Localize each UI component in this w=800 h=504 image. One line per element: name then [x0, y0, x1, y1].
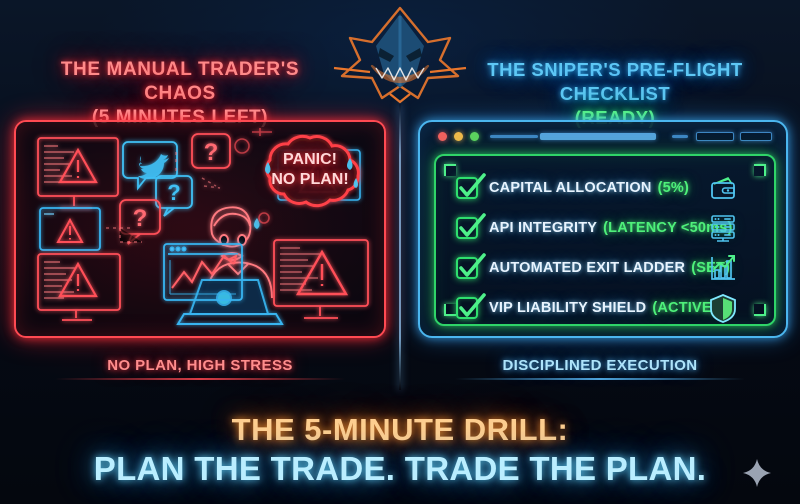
- checkbox-checked-icon[interactable]: [456, 297, 478, 319]
- checklist-item-value: (5%): [658, 180, 689, 196]
- panic-thought-bubble: PANIC! NO PLAN!: [244, 134, 376, 216]
- left-caption: NO PLAN, HIGH STRESS: [60, 352, 340, 378]
- svg-text:?: ?: [133, 205, 148, 232]
- window-minimize-dot[interactable]: [454, 132, 463, 141]
- svg-text:?: ?: [204, 139, 219, 166]
- panel-divider: [399, 104, 401, 390]
- svg-text:?: ?: [167, 180, 180, 205]
- checklist-item-label: AUTOMATED EXIT LADDER: [489, 260, 685, 276]
- checkbox-checked-icon[interactable]: [456, 177, 478, 199]
- frame-corner-top-left: [444, 164, 456, 176]
- titlebar-button-1[interactable]: [696, 132, 734, 141]
- checklist-item-capital-allocation[interactable]: CAPITAL ALLOCATION (5%): [456, 170, 760, 206]
- checklist: CAPITAL ALLOCATION (5%): [456, 170, 760, 330]
- shark-logo: [332, 2, 468, 106]
- infographic-canvas: THE MANUAL TRADER'S CHAOS (5 MINUTES LEF…: [0, 0, 800, 504]
- sparkle-icon: [742, 458, 772, 488]
- window-maximize-dot[interactable]: [470, 132, 479, 141]
- server-icon: [708, 213, 738, 243]
- checklist-item-label: API INTEGRITY: [489, 220, 597, 236]
- checklist-frame: CAPITAL ALLOCATION (5%): [434, 154, 776, 326]
- footer-title-line1: THE 5-MINUTE DRILL:: [0, 412, 800, 448]
- shield-icon: [708, 293, 738, 323]
- window-titlebar: [420, 122, 786, 150]
- footer-title-line2: PLAN THE TRADE. TRADE THE PLAN.: [0, 450, 800, 488]
- titlebar-dash: [672, 135, 688, 138]
- wallet-icon: [708, 173, 738, 203]
- checklist-item-label: VIP LIABILITY SHIELD: [489, 300, 646, 316]
- right-caption-rule: [455, 378, 745, 380]
- right-heading-line1: THE SNIPER'S PRE-FLIGHT CHECKLIST: [450, 58, 780, 106]
- checklist-item-api-integrity[interactable]: API INTEGRITY (LATENCY <50ms): [456, 210, 760, 246]
- checkbox-checked-icon[interactable]: [456, 257, 478, 279]
- checklist-item-label: CAPITAL ALLOCATION: [489, 180, 652, 196]
- right-caption: DISCIPLINED EXECUTION: [460, 352, 740, 378]
- left-caption-rule: [55, 378, 345, 380]
- right-panel-checklist: CAPITAL ALLOCATION (5%): [418, 120, 788, 338]
- titlebar-button-2[interactable]: [740, 132, 772, 141]
- bar-chart-icon: [708, 253, 738, 283]
- checkbox-checked-icon[interactable]: [456, 217, 478, 239]
- titlebar-title-block: [540, 133, 656, 140]
- checklist-item-exit-ladder[interactable]: AUTOMATED EXIT LADDER (SET): [456, 250, 760, 286]
- window-close-dot[interactable]: [438, 132, 447, 141]
- left-heading-line1: THE MANUAL TRADER'S CHAOS: [30, 58, 330, 106]
- checklist-item-liability-shield[interactable]: VIP LIABILITY SHIELD (ACTIVE): [456, 290, 760, 326]
- titlebar-decoration: [490, 135, 538, 138]
- left-panel-chaos: ? ? ?: [14, 120, 386, 338]
- frame-corner-bottom-left: [444, 304, 456, 316]
